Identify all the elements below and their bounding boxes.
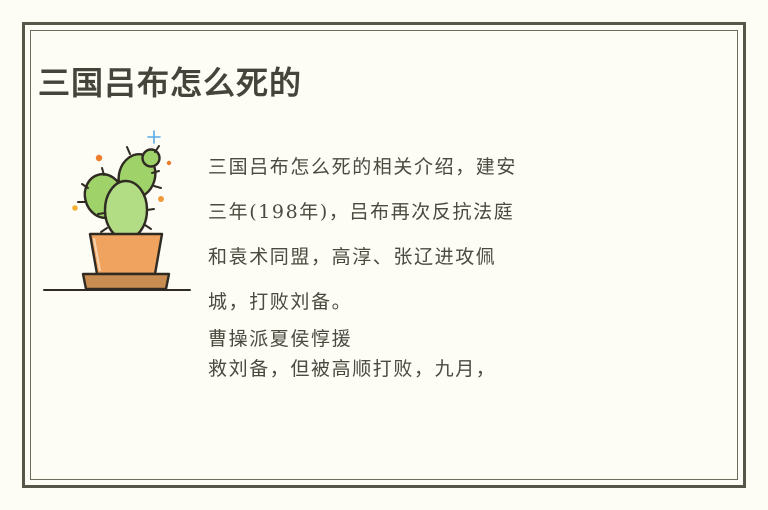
potted-cactus-illustration [42, 118, 192, 303]
sparkle-yellow-dot [72, 205, 78, 211]
article-line: 三国吕布怎么死的相关介绍，建安 [208, 145, 638, 190]
article-line: 和袁术同盟，高淳、张辽进攻佩 [208, 235, 638, 280]
article-line: 三年(198年)，吕布再次反抗法庭 [208, 190, 638, 235]
sparkle-orange-dot [96, 155, 102, 161]
sparkle-orange-right [158, 196, 164, 202]
sparkle-orange-small [167, 161, 171, 165]
page-title: 三国吕布怎么死的 [38, 63, 302, 103]
cactus-pot [83, 234, 169, 289]
sparkle-blue-plus [148, 131, 160, 143]
article-body: 三国吕布怎么死的相关介绍，建安 三年(198年)，吕布再次反抗法庭 和袁术同盟，… [208, 145, 638, 370]
cactus-main-body [105, 181, 147, 239]
article-line: 城，打败刘备。 [208, 280, 638, 325]
article-line: 救刘备，但被高顺打败，九月， [208, 347, 638, 392]
